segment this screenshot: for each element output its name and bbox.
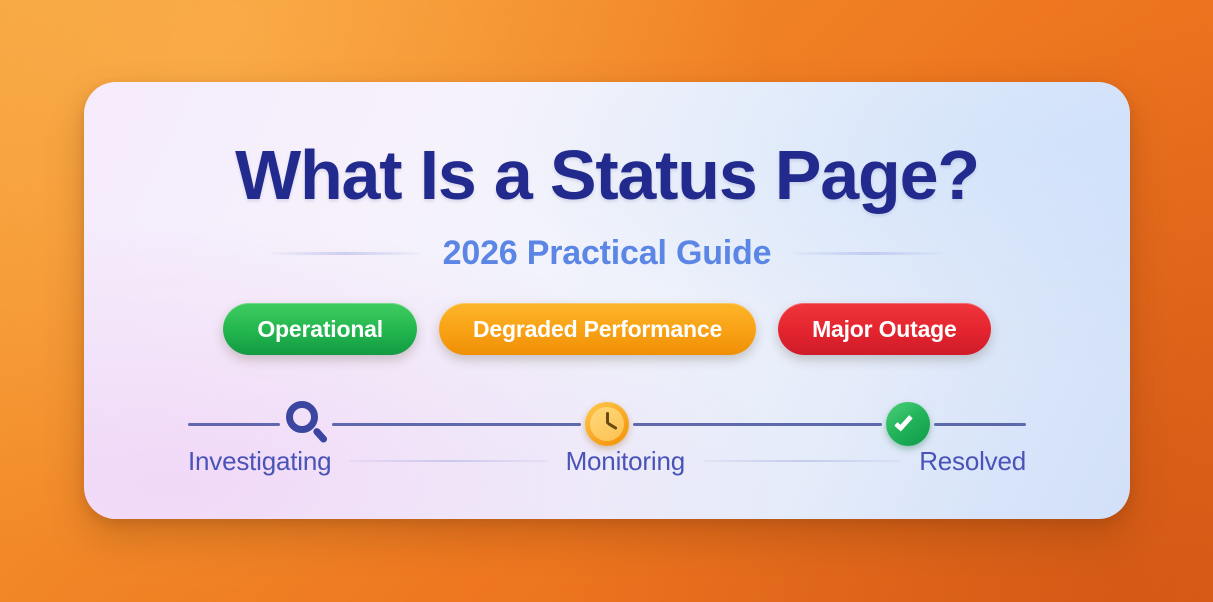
timeline-node-monitoring[interactable] — [581, 398, 633, 450]
subtitle-row: 2026 Practical Guide — [84, 230, 1130, 276]
status-badge-major-outage[interactable]: Major Outage — [778, 303, 991, 355]
status-badge-group: Operational Degraded Performance Major O… — [84, 303, 1130, 355]
timeline-line-2 — [633, 423, 882, 426]
page-title: What Is a Status Page? — [84, 140, 1130, 210]
timeline-label-investigating: Investigating — [188, 446, 331, 477]
clock-icon — [585, 402, 629, 446]
timeline-line-1 — [332, 423, 581, 426]
subtitle-rule-left — [271, 252, 421, 255]
label-rule-1 — [349, 460, 547, 462]
page-subtitle: 2026 Practical Guide — [443, 234, 772, 273]
incident-timeline — [188, 398, 1026, 450]
magnifier-icon — [284, 401, 328, 447]
timeline-node-investigating[interactable] — [280, 398, 332, 450]
status-badge-operational[interactable]: Operational — [223, 303, 417, 355]
label-rule-2 — [703, 460, 901, 462]
subtitle-rule-right — [793, 252, 943, 255]
timeline-line-start — [188, 423, 280, 426]
status-badge-degraded-performance[interactable]: Degraded Performance — [439, 303, 756, 355]
timeline-node-resolved[interactable] — [882, 398, 934, 450]
timeline-label-resolved: Resolved — [919, 446, 1026, 477]
infographic-canvas: What Is a Status Page? 2026 Practical Gu… — [0, 0, 1213, 602]
timeline-line-end — [934, 423, 1026, 426]
timeline-label-row: Investigating Monitoring Resolved — [188, 444, 1026, 478]
timeline-label-monitoring: Monitoring — [566, 446, 685, 477]
check-circle-icon — [886, 402, 930, 446]
status-page-card: What Is a Status Page? 2026 Practical Gu… — [84, 82, 1130, 519]
